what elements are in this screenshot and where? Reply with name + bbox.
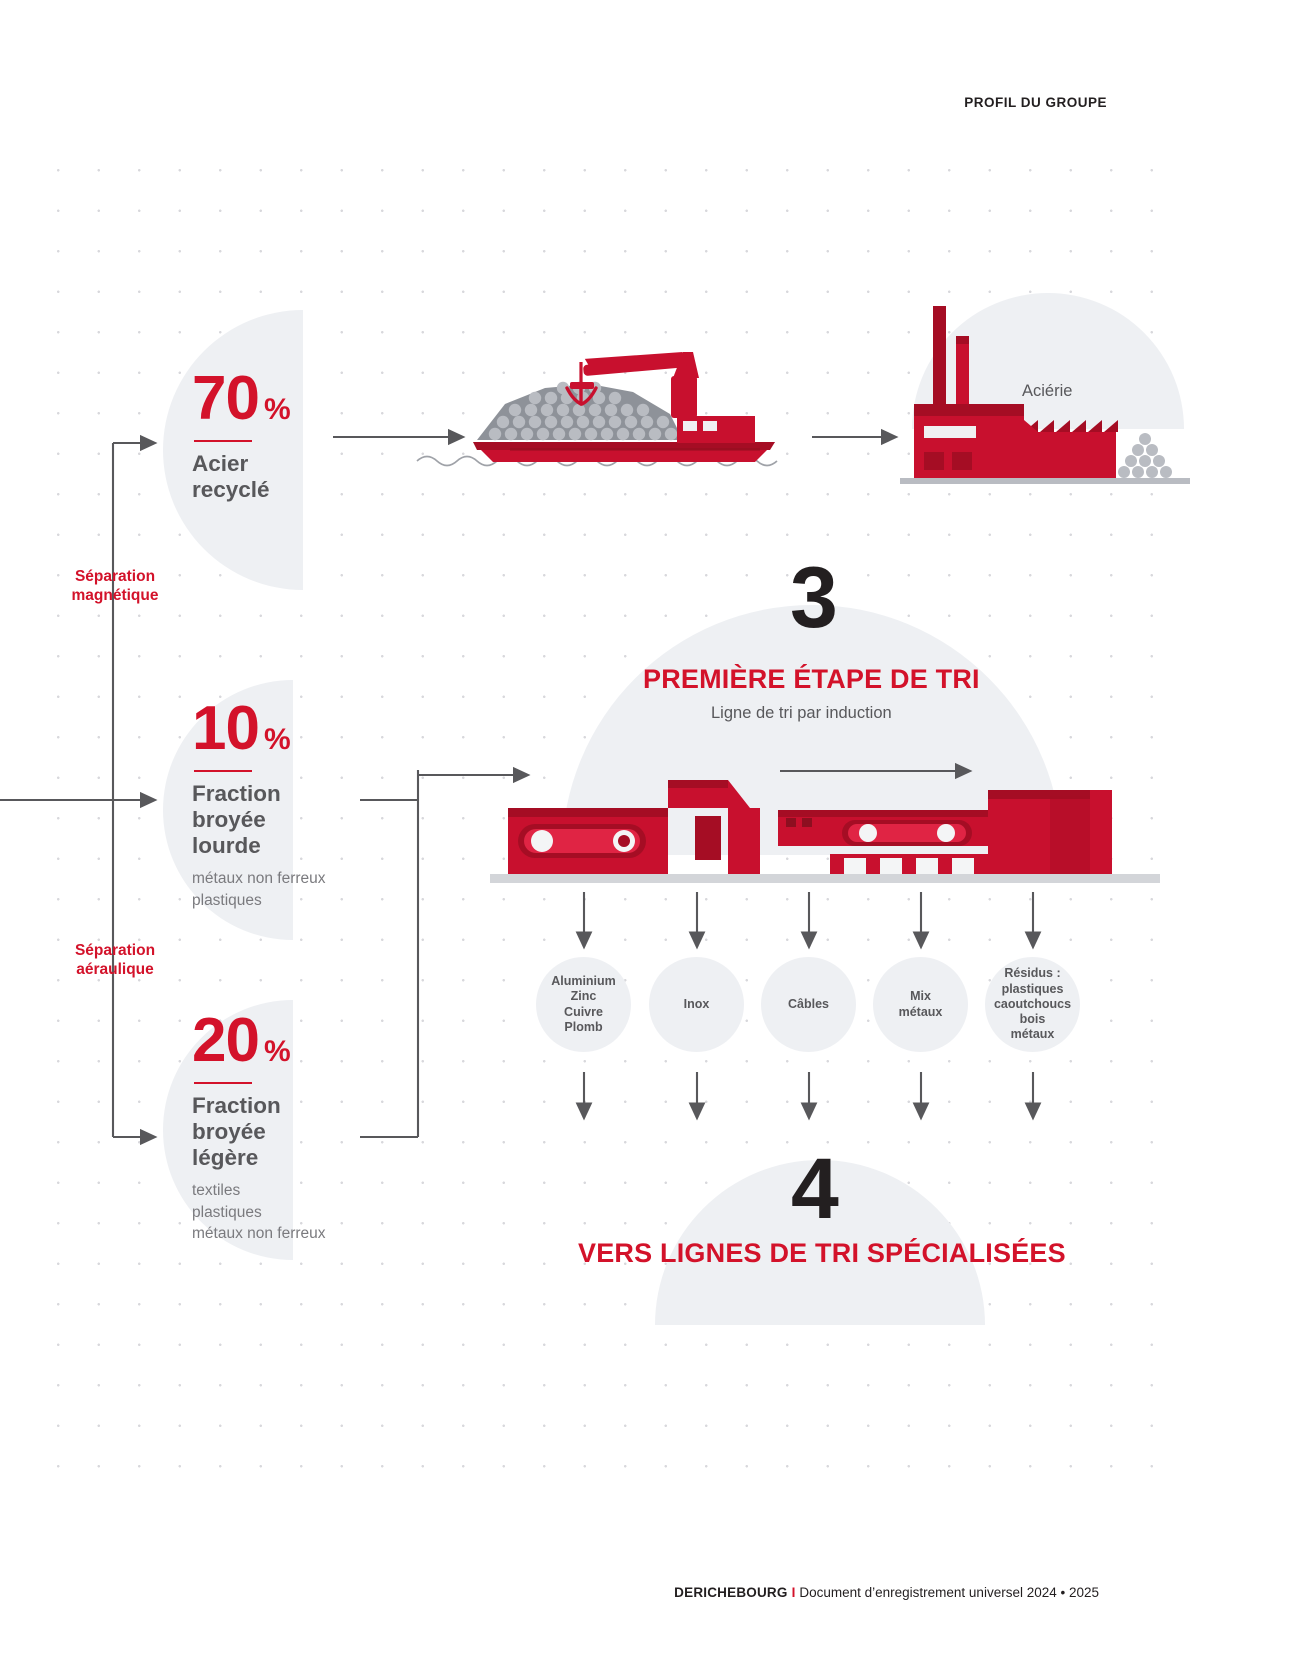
output-label: Résidus : plastiques caoutchoucs bois mé… <box>994 966 1071 1042</box>
stat-rule <box>194 770 252 772</box>
stat-number: 10 <box>192 694 259 763</box>
label-separation-magnetique: Séparation magnétique <box>40 568 190 605</box>
page-footer: DERICHEBOURGIDocument d’enregistrement u… <box>674 1585 1099 1600</box>
stat-sub-lourde: métaux non ferreux plastiques <box>192 868 326 911</box>
stat-rule <box>194 440 252 442</box>
stat-fraction-broyee-lourde: 10% Fraction broyée lourde métaux non fe… <box>192 700 326 911</box>
page-header-title: PROFIL DU GROUPE <box>964 95 1107 110</box>
stat-unit: % <box>264 1035 291 1068</box>
label-separation-aeraulique: Séparation aéraulique <box>40 942 190 979</box>
footer-brand: DERICHEBOURG <box>674 1585 787 1600</box>
output-label: Inox <box>684 997 710 1012</box>
output-label: Aluminium Zinc Cuivre Plomb <box>551 974 616 1035</box>
stat-value-legere: 20% <box>192 1012 326 1071</box>
stat-unit: % <box>264 723 291 756</box>
stat-value-lourde: 10% <box>192 700 326 759</box>
footer-separator: I <box>788 1585 800 1600</box>
infographic-page: PROFIL DU GROUPE <box>0 0 1299 1653</box>
output-circle-aluminium-zinc-cuivre-plomb: Aluminium Zinc Cuivre Plomb <box>536 957 631 1052</box>
footer-document: Document d’enregistrement universel 2024… <box>799 1585 1099 1600</box>
output-label: Mix métaux <box>899 989 943 1020</box>
stat-number: 20 <box>192 1006 259 1075</box>
output-circle-inox: Inox <box>649 957 744 1052</box>
stat-acier-recycle: 70% Acier recyclé <box>192 370 291 503</box>
stat-label-legere: Fraction broyée légère <box>192 1093 326 1171</box>
barge-illustration <box>415 330 815 500</box>
acierie-label: Aciérie <box>1022 382 1072 401</box>
section-number-four: 4 <box>791 1146 839 1232</box>
stat-fraction-broyee-legere: 20% Fraction broyée légère textiles plas… <box>192 1012 326 1244</box>
output-circle-residus: Résidus : plastiques caoutchoucs bois mé… <box>985 957 1080 1052</box>
section-title-three: PREMIÈRE ÉTAPE DE TRI <box>643 664 980 695</box>
output-circle-cables: Câbles <box>761 957 856 1052</box>
stat-label-acier: Acier recyclé <box>192 451 291 503</box>
stat-value-acier: 70% <box>192 370 291 429</box>
induction-sorting-line-illustration <box>490 750 1160 895</box>
section-number-three: 3 <box>790 555 838 641</box>
output-circle-mix-metaux: Mix métaux <box>873 957 968 1052</box>
output-label: Câbles <box>788 997 829 1012</box>
section-subtitle-three: Ligne de tri par induction <box>711 704 892 723</box>
stat-rule <box>194 1082 252 1084</box>
stat-unit: % <box>264 393 291 426</box>
section-title-four: VERS LIGNES DE TRI SPÉCIALISÉES <box>578 1238 1066 1269</box>
stat-number: 70 <box>192 364 259 433</box>
stat-label-lourde: Fraction broyée lourde <box>192 781 326 859</box>
stat-sub-legere: textiles plastiques métaux non ferreux <box>192 1180 326 1244</box>
